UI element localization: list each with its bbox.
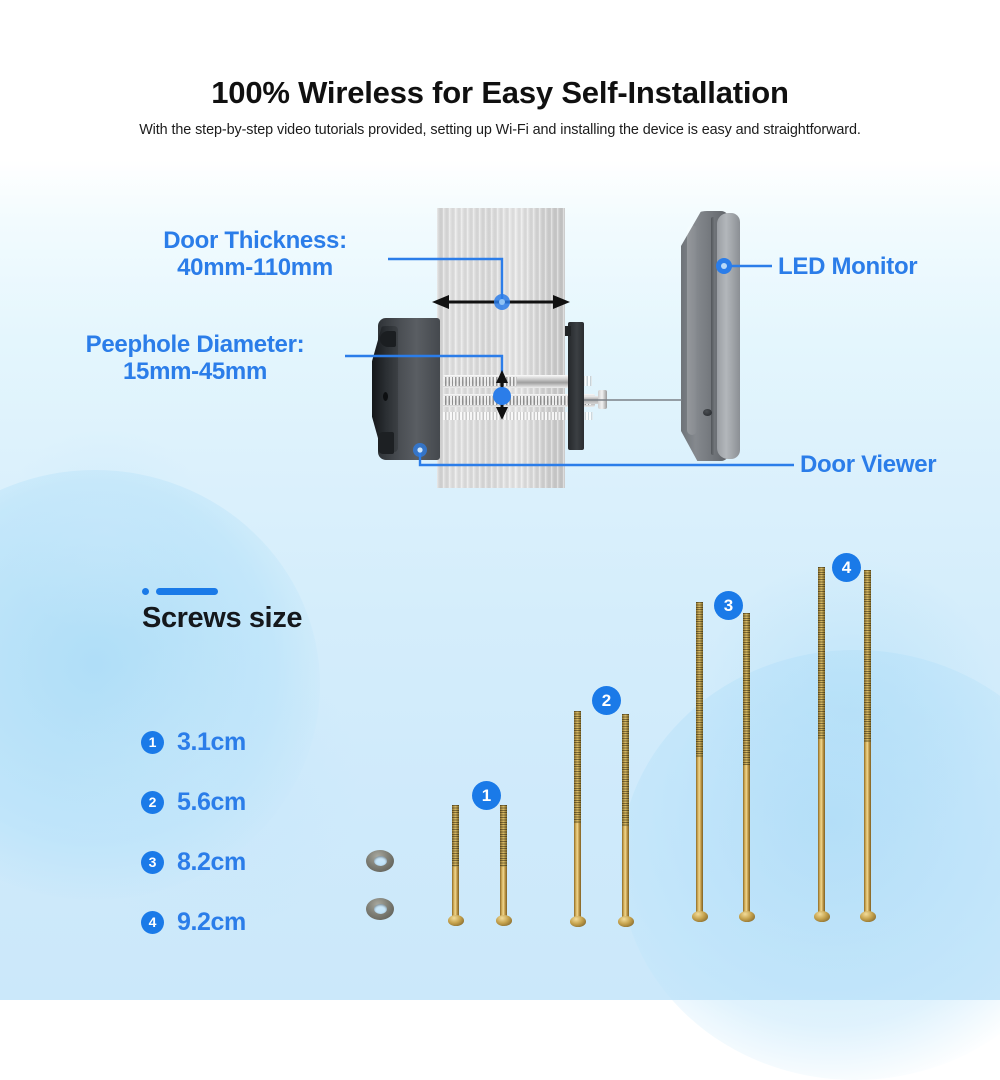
section-decoration xyxy=(142,588,302,595)
screw-group-4 xyxy=(864,570,871,925)
legend-badge-2: 2 xyxy=(141,791,164,814)
callout-label-door-viewer: Door Viewer xyxy=(800,452,936,479)
page-title: 100% Wireless for Easy Self-Installation xyxy=(0,76,1000,110)
monitor-seam xyxy=(711,217,715,455)
mounting-back-plate-tab xyxy=(565,326,571,336)
screws-section-header: Screws size xyxy=(142,588,302,635)
washer-hole xyxy=(374,856,387,866)
screw-shaft xyxy=(574,823,581,920)
screw-number-badge-3: 3 xyxy=(714,591,743,620)
washer-hole xyxy=(374,904,387,914)
screw-threaded-section xyxy=(622,714,629,826)
screw-number-badge-2: 2 xyxy=(592,686,621,715)
screw-shaft xyxy=(864,742,871,915)
screw-shaft xyxy=(500,867,507,919)
screw-threaded-section xyxy=(864,570,871,742)
callout-label-led-monitor: LED Monitor xyxy=(778,254,917,281)
washer xyxy=(366,850,394,872)
callout-label-peephole-diameter: Peephole Diameter: 15mm-45mm xyxy=(30,332,360,386)
screw-head xyxy=(618,916,634,927)
washer xyxy=(366,898,394,920)
door-panel xyxy=(437,208,565,488)
callout-line-2: 40mm-110mm xyxy=(110,255,400,282)
screw-head xyxy=(496,915,512,926)
screw-threaded-section xyxy=(574,711,581,823)
screw-group-2 xyxy=(622,714,629,925)
screw-group-2 xyxy=(574,711,581,925)
screws-size-legend: 1 3.1cm 2 5.6cm 3 8.2cm 4 9.2cm xyxy=(141,712,246,952)
screw-threaded-section xyxy=(500,805,507,867)
screw-threaded-section xyxy=(818,567,825,739)
screw-threaded-section xyxy=(743,613,750,765)
legend-size-1: 3.1cm xyxy=(177,728,246,757)
screw-threaded-section xyxy=(696,602,703,757)
camera-lens-icon xyxy=(383,392,388,401)
legend-item: 3 8.2cm xyxy=(141,832,246,892)
screw-group-1 xyxy=(500,805,507,925)
legend-size-4: 9.2cm xyxy=(177,908,246,937)
legend-badge-1: 1 xyxy=(141,731,164,754)
screw-shaft xyxy=(452,867,459,919)
camera-unit-bottom-lip xyxy=(378,432,394,454)
callout-label-door-thickness: Door Thickness: 40mm-110mm xyxy=(110,228,400,282)
screw-shaft xyxy=(622,826,629,920)
legend-item: 4 9.2cm xyxy=(141,892,246,952)
screw-head xyxy=(570,916,586,927)
monitor-highlight xyxy=(687,225,697,435)
screw-shaft xyxy=(818,739,825,915)
screw-head xyxy=(692,911,708,922)
decoration-dot-icon xyxy=(142,588,149,595)
screw-group-3 xyxy=(696,602,703,925)
screw-head xyxy=(448,915,464,926)
threaded-rod-upper-threads xyxy=(443,377,517,386)
screw-threaded-section xyxy=(452,805,459,867)
legend-item: 1 3.1cm xyxy=(141,712,246,772)
page-subtitle: With the step-by-step video tutorials pr… xyxy=(0,122,1000,138)
monitor-front-edge xyxy=(717,213,740,459)
screw-shaft xyxy=(743,765,750,915)
screws-section-title: Screws size xyxy=(142,602,302,635)
screw-number-badge-4: 4 xyxy=(832,553,861,582)
callout-line-1: Peephole Diameter: xyxy=(30,332,360,359)
legend-badge-4: 4 xyxy=(141,911,164,934)
legend-size-3: 8.2cm xyxy=(177,848,246,877)
legend-badge-3: 3 xyxy=(141,851,164,874)
monitor-port-hole-icon xyxy=(703,409,712,416)
screw-head xyxy=(739,911,755,922)
screw-head xyxy=(860,911,876,922)
legend-size-2: 5.6cm xyxy=(177,788,246,817)
screw-group-4 xyxy=(818,567,825,925)
camera-unit-top-lip xyxy=(380,331,396,347)
led-monitor-device xyxy=(681,211,743,461)
screw-number-badge-1: 1 xyxy=(472,781,501,810)
screw-group-1 xyxy=(452,805,459,925)
decoration-bar-icon xyxy=(156,588,218,595)
screw-group-3 xyxy=(743,613,750,925)
screw-head xyxy=(814,911,830,922)
fixing-screw-head xyxy=(598,390,607,409)
header: 100% Wireless for Easy Self-Installation… xyxy=(0,76,1000,138)
screw-shaft xyxy=(696,757,703,915)
legend-item: 2 5.6cm xyxy=(141,772,246,832)
callout-line-1: Door Thickness: xyxy=(110,228,400,255)
callout-line-2: 15mm-45mm xyxy=(30,359,360,386)
mounting-back-plate xyxy=(568,322,584,450)
